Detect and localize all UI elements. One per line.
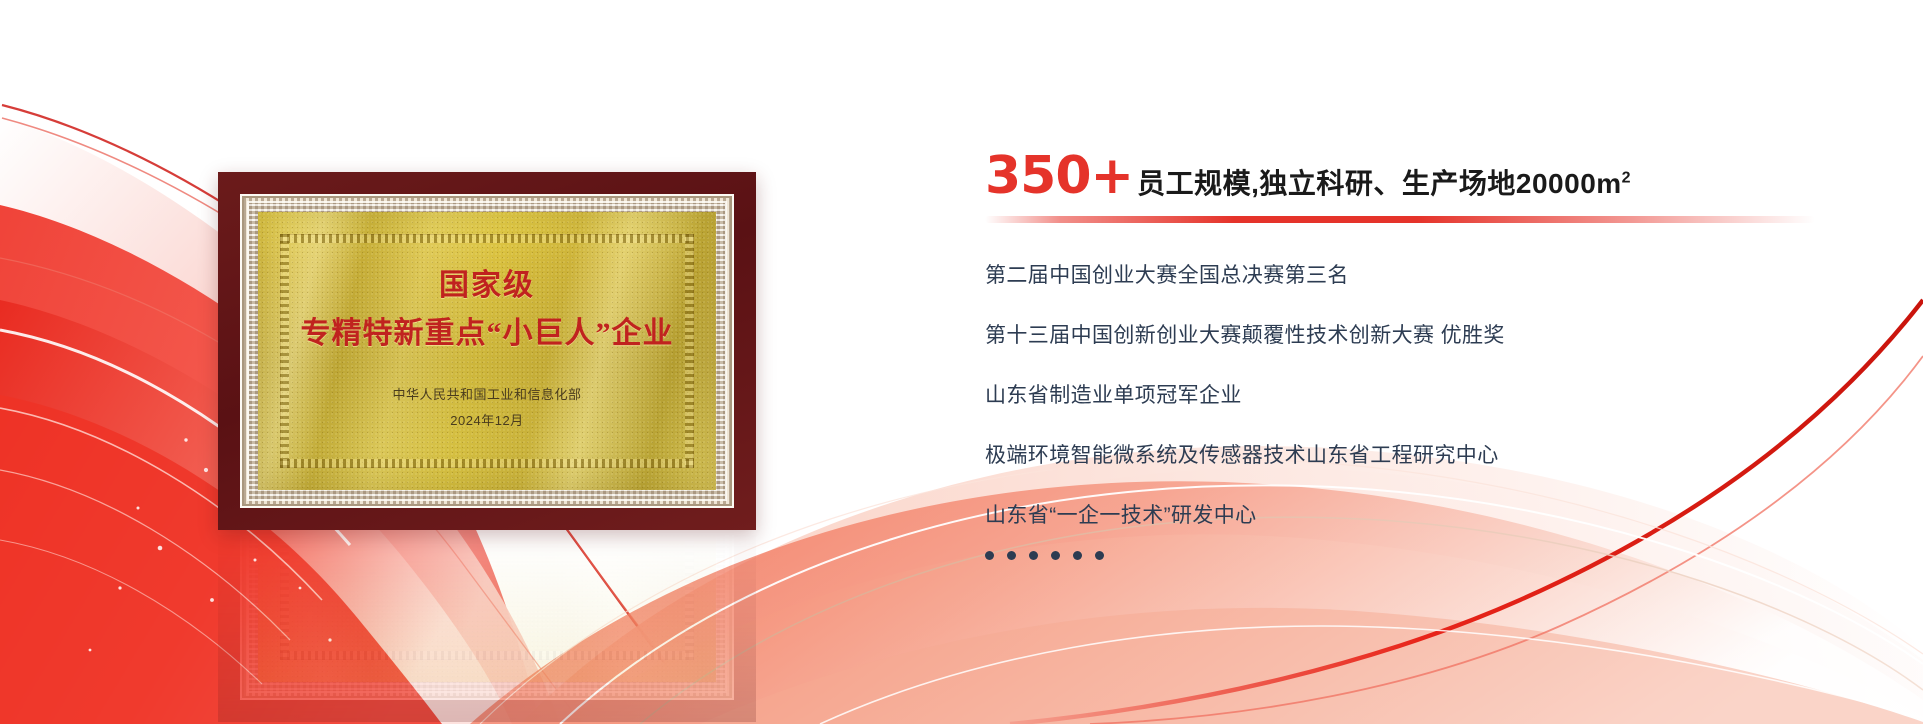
ellipsis-dots	[985, 551, 1865, 560]
ellipsis-dot	[985, 551, 994, 560]
ellipsis-dot	[1051, 551, 1060, 560]
plaque-date: 2024年12月	[258, 410, 716, 429]
headline-text-main: 员工规模,独立科研、生产场地20000m	[1137, 168, 1622, 199]
ellipsis-dot	[1007, 551, 1016, 560]
headline-number: 350+	[985, 150, 1133, 202]
list-item: 第十三届中国创新创业大赛颠覆性技术创新大赛 优胜奖	[985, 325, 1865, 346]
list-item: 第二届中国创业大赛全国总决赛第三名	[985, 265, 1865, 286]
awards-list: 第二届中国创业大赛全国总决赛第三名 第十三届中国创新创业大赛颠覆性技术创新大赛 …	[985, 265, 1865, 560]
plaque-text-block: 国家级 专精特新重点“小巨人”企业 中华人民共和国工业和信息化部 2024年12…	[258, 212, 716, 490]
award-plaque: 国家级 专精特新重点“小巨人”企业 中华人民共和国工业和信息化部 2024年12…	[218, 172, 756, 530]
ellipsis-dot	[1095, 551, 1104, 560]
list-item: 山东省制造业单项冠军企业	[985, 385, 1865, 406]
ellipsis-dot	[1029, 551, 1038, 560]
content-column: 350+ 员工规模,独立科研、生产场地20000m2 第二届中国创业大赛全国总决…	[985, 150, 1865, 560]
plaque-title: 国家级	[258, 260, 716, 304]
headline: 350+ 员工规模,独立科研、生产场地20000m2	[985, 150, 1865, 202]
headline-superscript: 2	[1622, 170, 1631, 187]
headline-text: 员工规模,独立科研、生产场地20000m2	[1137, 170, 1631, 198]
ellipsis-dot	[1073, 551, 1082, 560]
promo-banner: 国家级 专精特新重点“小巨人”企业 中华人民共和国工业和信息化部 2024年12…	[0, 0, 1923, 724]
plaque-body: 国家级 专精特新重点“小巨人”企业 中华人民共和国工业和信息化部 2024年12…	[218, 172, 756, 530]
plaque-subtitle: 专精特新重点“小巨人”企业	[258, 308, 716, 352]
list-item: 极端环境智能微系统及传感器技术山东省工程研究中心	[985, 445, 1865, 466]
plaque-issuer: 中华人民共和国工业和信息化部	[258, 384, 716, 403]
headline-underline-rule	[985, 216, 1815, 223]
plaque-gold-plate: 国家级 专精特新重点“小巨人”企业 中华人民共和国工业和信息化部 2024年12…	[258, 212, 716, 490]
list-item: 山东省“一企一技术”研发中心	[985, 505, 1865, 526]
